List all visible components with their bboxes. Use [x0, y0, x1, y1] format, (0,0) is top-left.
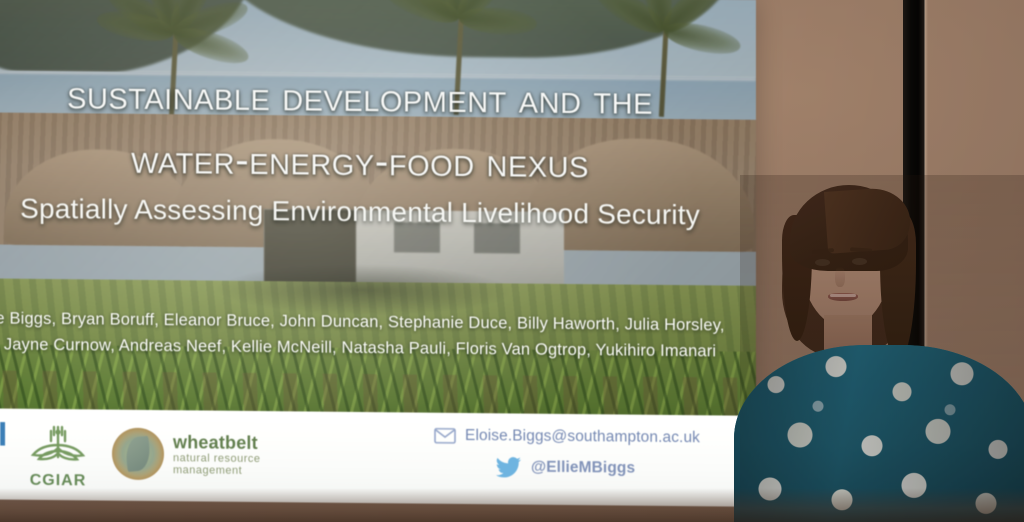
nose: [835, 267, 845, 287]
wheatbelt-logo: wheatbelt natural resource management: [112, 428, 261, 481]
email-address[interactable]: Eloise.Biggs@southampton.ac.uk: [465, 427, 700, 447]
wheatbelt-subtitle-2: management: [173, 464, 261, 477]
eye-left: [815, 259, 830, 266]
email-row: Eloise.Biggs@southampton.ac.uk: [434, 427, 734, 448]
cgiar-logo: CGIAR: [16, 423, 100, 491]
iwmi-mark-right: WMI: [0, 415, 5, 454]
twitter-bird-icon: [496, 456, 522, 478]
twitter-handle[interactable]: @EllieMBiggs: [531, 459, 635, 478]
envelope-icon: [434, 428, 456, 444]
hair-fringe-sweep: [824, 186, 912, 254]
eye-right: [852, 258, 867, 265]
teeth-highlight: [830, 294, 856, 297]
presenter-figure: [740, 175, 1024, 522]
projected-slide: Sustainable development and the water-en…: [0, 0, 756, 507]
wheatbelt-subtitle-1: natural resource: [173, 452, 261, 465]
lower-wall-shadow: [0, 488, 1024, 522]
twitter-row: @EllieMBiggs: [434, 456, 734, 481]
slide-title-line-2: water-energy-food nexus: [0, 136, 756, 187]
wheatbelt-emblem-icon: [112, 428, 164, 480]
wheat-stalk-icon: [30, 423, 86, 466]
slide-title-line-1: Sustainable development and the: [0, 72, 756, 123]
presentation-photo-scene: Sustainable development and the water-en…: [0, 0, 1024, 522]
wheatbelt-text-block: wheatbelt natural resource management: [173, 432, 261, 478]
slide-author-list: e Biggs, Bryan Boruff, Eleanor Bruce, Jo…: [0, 305, 756, 365]
contact-block: Eloise.Biggs@southampton.ac.uk @EllieMBi…: [434, 427, 734, 481]
wheatbelt-title: wheatbelt: [173, 432, 261, 453]
slide-title-block: Sustainable development and the water-en…: [0, 72, 756, 187]
wheatbelt-leaf-shape: [124, 436, 151, 472]
